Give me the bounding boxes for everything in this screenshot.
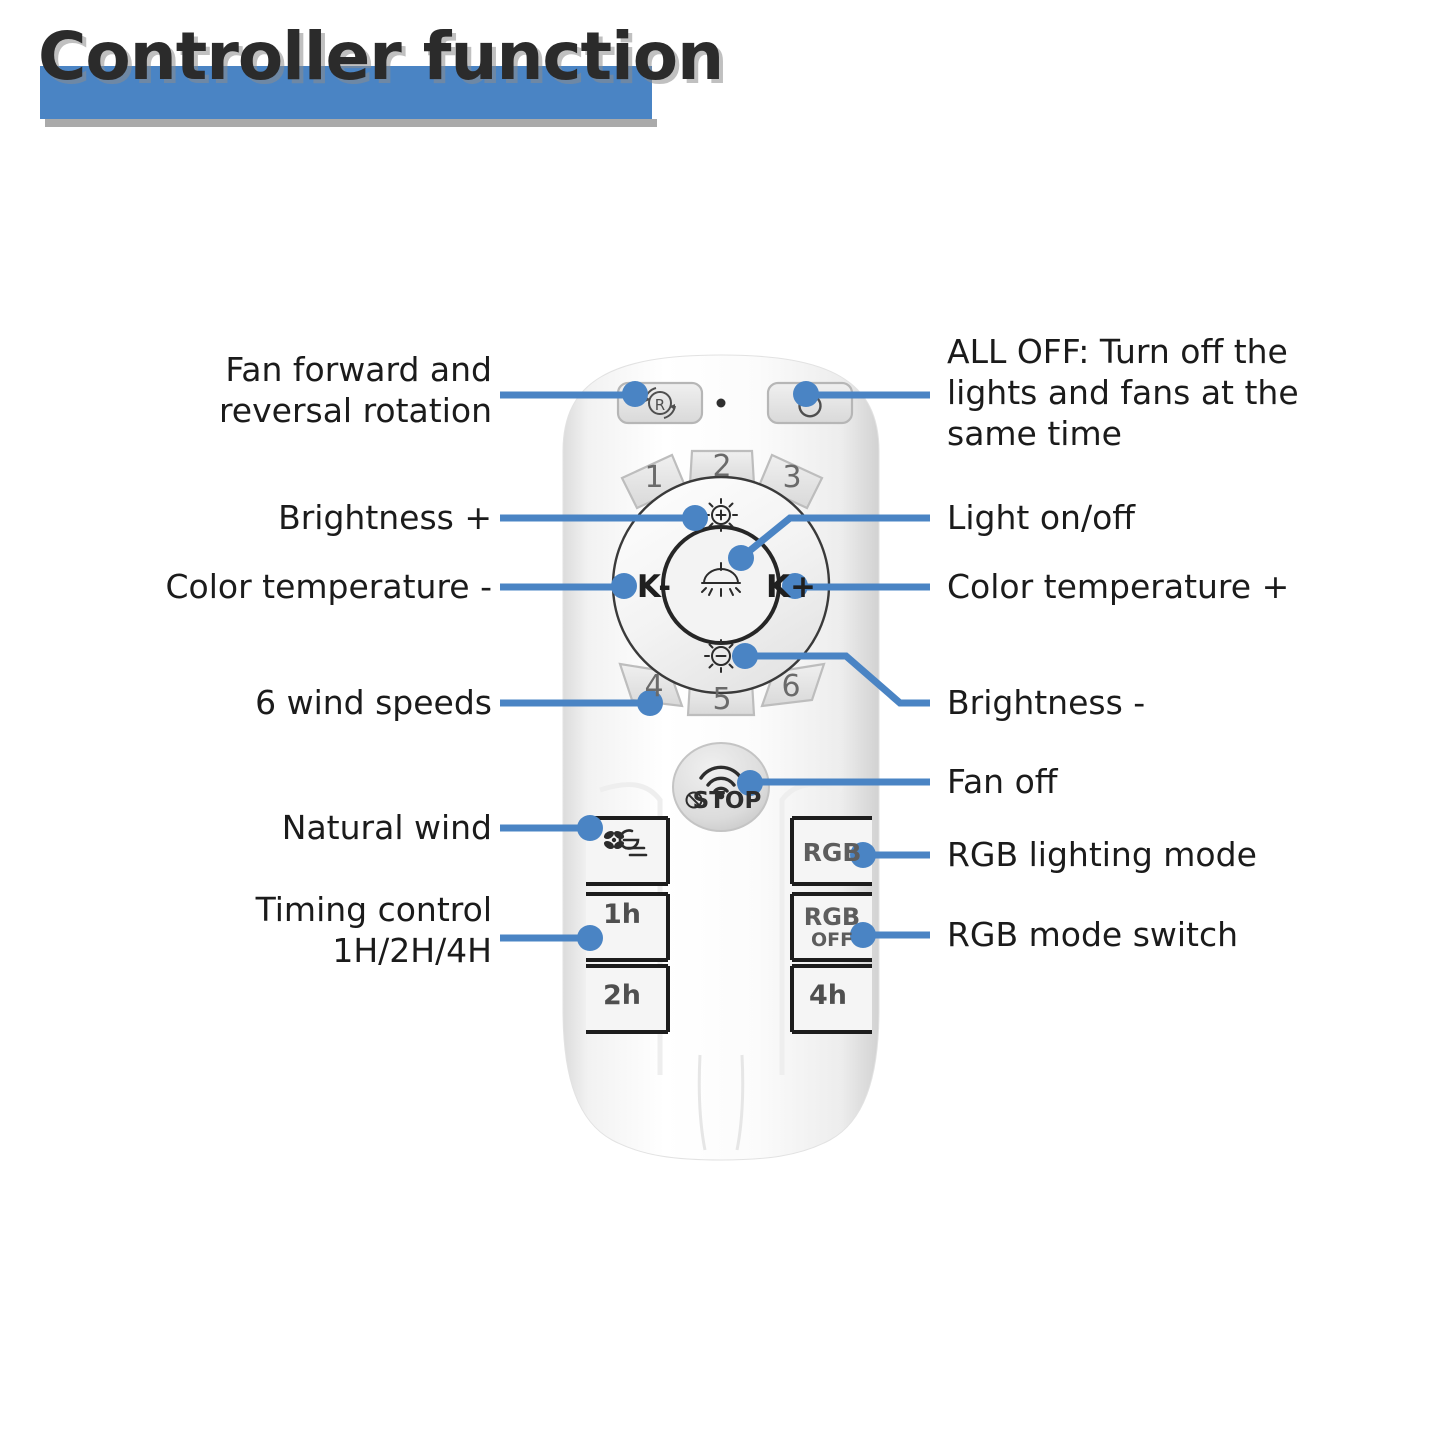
timer-2h-label: 2h xyxy=(603,980,641,1011)
dot-fan-rotation xyxy=(622,381,648,407)
label-brightness-up: Brightness + xyxy=(72,497,492,538)
timer-4h-label: 4h xyxy=(809,980,847,1011)
rotation-button-glyph: R xyxy=(655,396,665,414)
label-timing-control: Timing control 1H/2H/4H xyxy=(62,889,492,971)
label-rgb-lighting: RGB lighting mode xyxy=(947,834,1387,875)
speed-button-4-label: 4 xyxy=(644,669,663,704)
label-all-off: ALL OFF: Turn off the lights and fans at… xyxy=(947,331,1387,454)
brightness-plus-icon[interactable] xyxy=(705,499,737,531)
rgb-off-label-line2: OFF xyxy=(811,929,853,951)
label-wind-speeds: 6 wind speeds xyxy=(62,682,492,723)
ir-emitter-dot xyxy=(717,399,726,408)
kelvin-plus-label: K+ xyxy=(766,569,816,605)
speed-button-2-label: 2 xyxy=(712,449,731,484)
timer-1h-label: 1h xyxy=(603,899,641,930)
dot-natural-wind xyxy=(577,815,603,841)
label-brightness-down: Brightness - xyxy=(947,682,1387,723)
label-color-temp-down: Color temperature - xyxy=(62,566,492,607)
label-natural-wind: Natural wind xyxy=(62,807,492,848)
label-light-on-off: Light on/off xyxy=(947,497,1387,538)
speed-button-3-label: 3 xyxy=(782,460,801,495)
dot-light-on-off xyxy=(728,545,754,571)
label-color-temp-up: Color temperature + xyxy=(947,566,1397,607)
label-fan-off: Fan off xyxy=(947,761,1387,802)
dot-brightness-up xyxy=(682,505,708,531)
rgb-off-label-line1: RGB xyxy=(804,903,860,931)
speed-button-5-label: 5 xyxy=(712,682,731,717)
dot-brightness-down xyxy=(732,643,758,669)
speed-button-1-label: 1 xyxy=(644,460,663,495)
label-fan-rotation: Fan forward and reversal rotation xyxy=(72,349,492,431)
speed-button-6-label: 6 xyxy=(781,669,800,704)
dot-timing-control xyxy=(577,925,603,951)
rgb-label: RGB xyxy=(803,838,862,867)
stop-label: STOP xyxy=(693,788,762,814)
kelvin-minus-label: K- xyxy=(637,569,671,605)
label-rgb-mode-switch: RGB mode switch xyxy=(947,914,1387,955)
dot-color-temp-down xyxy=(611,573,637,599)
dot-all-off xyxy=(793,381,819,407)
